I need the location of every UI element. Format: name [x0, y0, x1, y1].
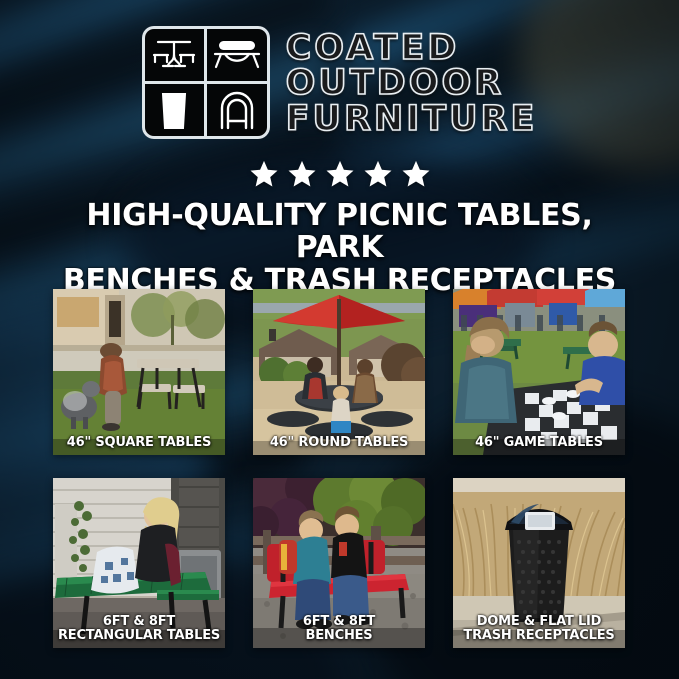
square-tables-photo	[53, 289, 225, 455]
product-tile-square-tables[interactable]: 46" SQUARE TABLES	[53, 289, 225, 455]
star-icon	[249, 159, 279, 189]
game-tables-photo	[453, 289, 625, 455]
trash-receptacle-glyph	[154, 88, 194, 132]
tile-caption: 46" GAME TABLES	[453, 436, 625, 450]
round-tables-illustration	[253, 289, 425, 455]
logo-wordmark: COATED OUTDOOR FURNITURE	[286, 29, 538, 137]
star-icon	[401, 159, 431, 189]
product-tile-benches[interactable]: 6FT & 8FT BENCHES	[253, 478, 425, 648]
tile-caption: 6FT & 8FT BENCHES	[253, 615, 425, 643]
tile-caption: 6FT & 8FT RECTANGULAR TABLES	[53, 615, 225, 643]
product-tile-game-tables[interactable]: 46" GAME TABLES	[453, 289, 625, 455]
bench-glyph	[211, 35, 263, 75]
product-category-grid: 46" SQUARE TABLES	[53, 289, 626, 648]
star-icon	[363, 159, 393, 189]
page-headline: HIGH-QUALITY PICNIC TABLES, PARK BENCHES…	[0, 200, 679, 297]
bike-rack-icon	[207, 84, 267, 136]
tile-caption-line-2: BENCHES	[256, 629, 422, 643]
star-icon	[287, 159, 317, 189]
picnic-table-icon	[145, 29, 205, 81]
tile-caption-line-1: 46" GAME TABLES	[475, 435, 603, 450]
logo-word-coated: COATED	[286, 31, 538, 66]
headline-line-1: HIGH-QUALITY PICNIC TABLES, PARK	[86, 198, 592, 265]
bike-rack-glyph	[214, 88, 260, 132]
tile-caption-line-2: RECTANGULAR TABLES	[56, 629, 222, 643]
brand-logo: COATED OUTDOOR FURNITURE	[0, 26, 679, 139]
logo-word-outdoor: OUTDOOR	[286, 66, 538, 101]
tile-caption: 46" ROUND TABLES	[253, 436, 425, 450]
square-tables-illustration	[53, 289, 225, 455]
logo-icon-grid	[142, 26, 270, 139]
tile-caption-line-2: TRASH RECEPTACLES	[456, 629, 622, 643]
game-tables-illustration	[453, 289, 625, 455]
tile-caption: 46" SQUARE TABLES	[53, 436, 225, 450]
star-icon	[325, 159, 355, 189]
round-tables-photo	[253, 289, 425, 455]
picnic-table-glyph	[149, 35, 199, 75]
star-rating	[0, 159, 679, 189]
logo-word-furniture: FURNITURE	[286, 102, 538, 137]
tile-caption-line-1: 46" SQUARE TABLES	[67, 435, 211, 450]
trash-receptacle-icon	[145, 84, 205, 136]
tile-caption: DOME & FLAT LID TRASH RECEPTACLES	[453, 615, 625, 643]
product-tile-round-tables[interactable]: 46" ROUND TABLES	[253, 289, 425, 455]
bench-icon	[207, 29, 267, 81]
product-tile-rectangular-tables[interactable]: 6FT & 8FT RECTANGULAR TABLES	[53, 478, 225, 648]
product-tile-trash-receptacles[interactable]: DOME & FLAT LID TRASH RECEPTACLES	[453, 478, 625, 648]
tile-caption-line-1: 46" ROUND TABLES	[270, 435, 408, 450]
